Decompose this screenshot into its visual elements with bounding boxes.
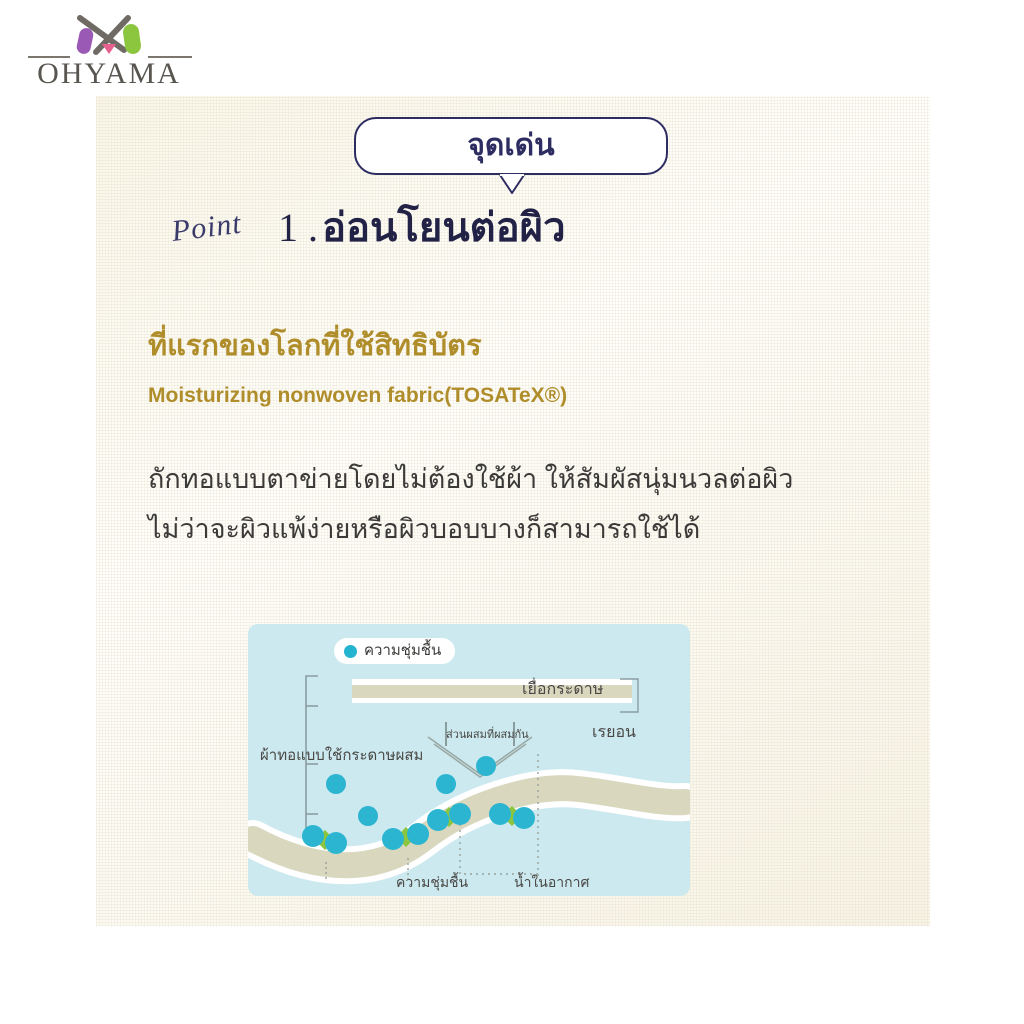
feature-heading-en: Moisturizing nonwoven fabric(TOSATeX®) <box>148 383 567 409</box>
moisture-circle-icon <box>513 807 535 829</box>
diagram-label-moisture: ความชุ่มชื้น <box>396 874 468 890</box>
highlight-bubble: จุดเด่น <box>354 117 670 193</box>
moisture-circle-icon <box>326 774 346 794</box>
moisture-circle-icon <box>382 828 404 850</box>
moisture-circle-icon <box>302 825 324 847</box>
moisture-circle-icon <box>476 756 496 776</box>
moisture-circle-icon <box>489 803 511 825</box>
feature-body: ถักทอแบบตาข่ายโดยไม่ต้องใช้ผ้า ให้สัมผัส… <box>148 454 908 554</box>
content-canvas: จุดเด่น Point 1 . อ่อนโยนต่อผิว ที่แรกขอ… <box>96 96 930 926</box>
moisture-circle-icon <box>449 803 471 825</box>
feature-heading-th: ที่แรกของโลกที่ใช้สิทธิบัตร <box>148 328 482 364</box>
diagram-label-air: น้ำในอากาศ <box>514 874 589 890</box>
moisture-circle-icon <box>358 806 378 826</box>
bubble-tail-icon <box>499 174 525 196</box>
moisture-circle-icon <box>427 809 449 831</box>
diagram-label-rayon: เรยอน <box>592 725 636 741</box>
point-number: 1 . <box>278 204 318 251</box>
diagram-label-pulp: เยื่อกระดาษ <box>522 682 603 698</box>
logo-wordmark: OHYAMA <box>24 58 194 90</box>
highlight-bubble-label: จุดเด่น <box>467 129 554 163</box>
brand-logo: OHYAMA <box>24 14 194 90</box>
highlight-bubble-box: จุดเด่น <box>354 117 668 175</box>
moisture-diagram-panel: ความชุ่มชื้น เยื่อกระดาษ เรยอน ผ้าทอแบบใ… <box>248 624 690 896</box>
legend-dot-icon <box>344 645 357 658</box>
feature-body-line-2: ไม่ว่าจะผิวแพ้ง่ายหรือผิวบอบบางก็สามารถใ… <box>148 504 908 554</box>
ohyama-mark-icon <box>66 14 152 58</box>
point-title: อ่อนโยนต่อผิว <box>322 206 566 250</box>
diagram-label-fabric: ผ้าทอแบบใช้กระดาษผสม <box>260 748 423 764</box>
moisture-circle-icon <box>325 832 347 854</box>
diagram-legend: ความชุ่มชื้น <box>334 638 455 664</box>
moisture-circle-icon <box>407 823 429 845</box>
circle-particles <box>302 756 535 854</box>
feature-body-line-1: ถักทอแบบตาข่ายโดยไม่ต้องใช้ผ้า ให้สัมผัส… <box>148 454 908 504</box>
moisture-circle-icon <box>436 774 456 794</box>
diagram-label-mixture: ส่วนผสมที่ผสมกัน <box>446 727 529 743</box>
point-script-label: Point <box>170 207 244 249</box>
point-heading: Point 1 . อ่อนโยนต่อผิว <box>174 204 566 251</box>
legend-label: ความชุ่มชื้น <box>364 642 441 660</box>
